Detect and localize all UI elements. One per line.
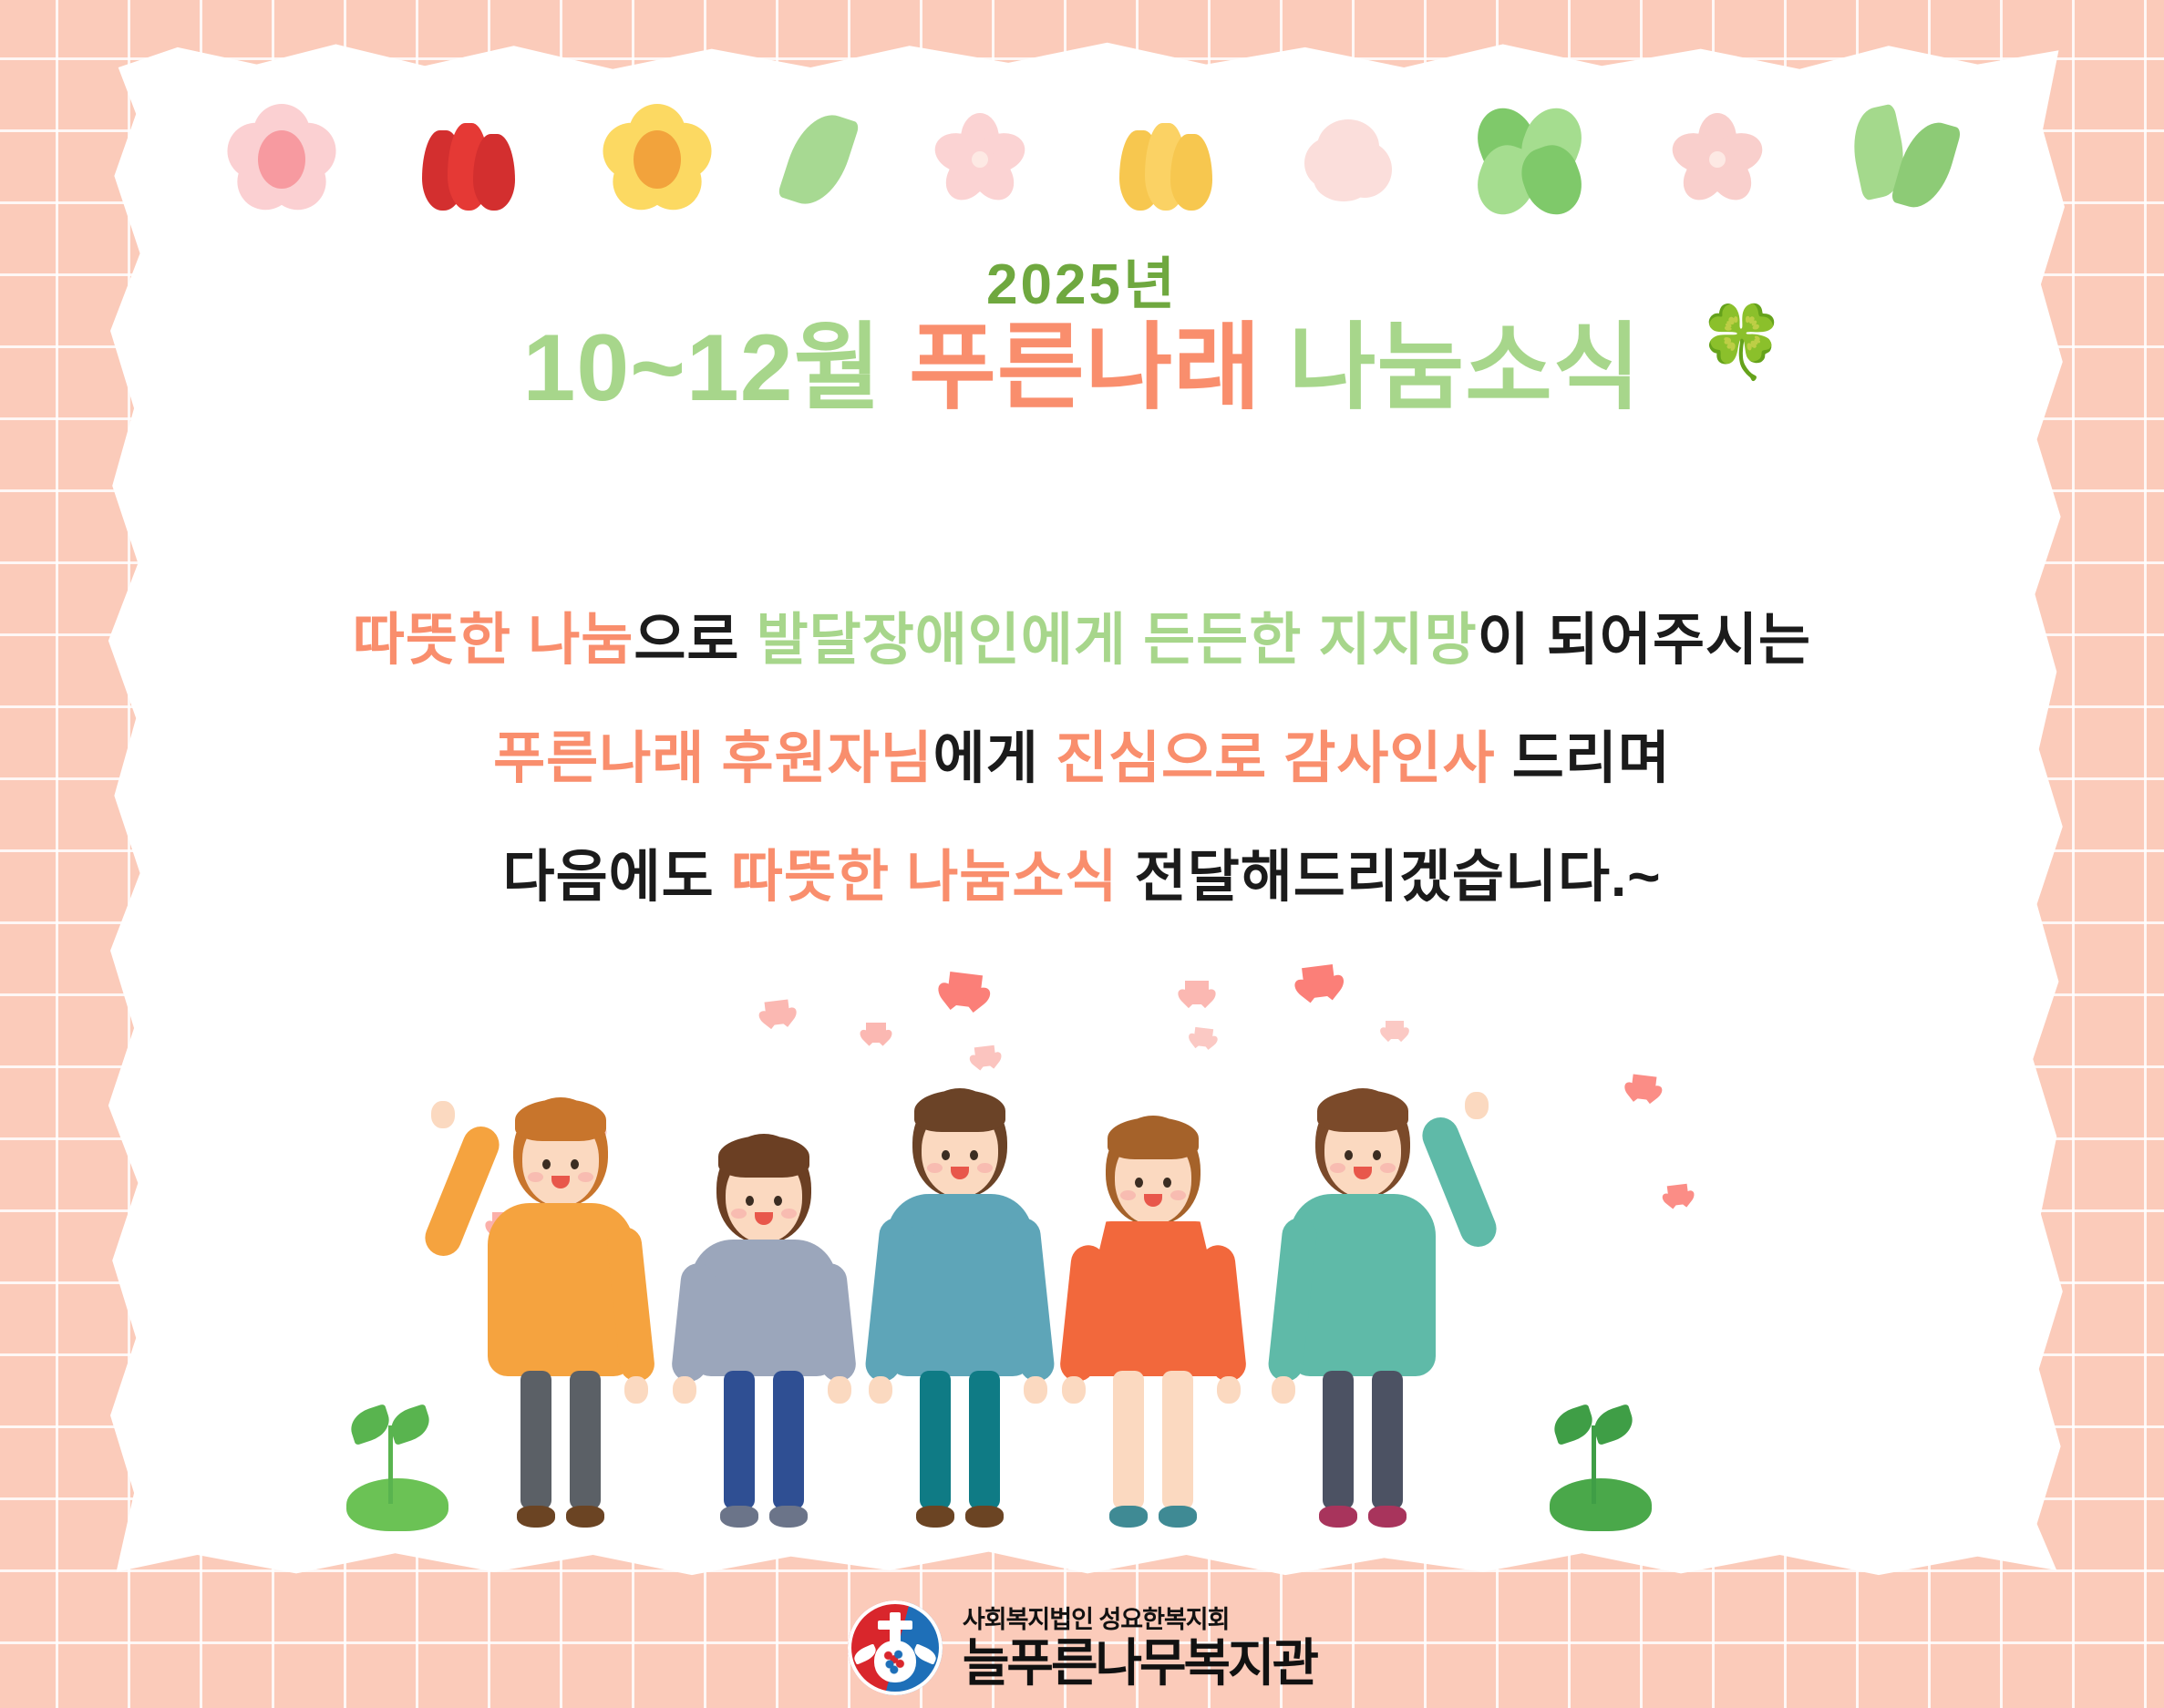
- hand-left: [431, 1101, 455, 1128]
- greeting-message: 따뜻한 나눔으로 발달장애인에게 든든한 지지망이 되어주시는푸른나래 후원자님…: [0, 612, 2164, 968]
- heart-icon: [974, 1045, 997, 1068]
- message-line-3-seg-2: 전달해드리겠습니다.~: [1118, 846, 1661, 909]
- hand-right: [1465, 1092, 1489, 1119]
- cheek-right: [977, 1163, 993, 1173]
- person-orange-sweater: [456, 1103, 665, 1531]
- st-john-of-god-emblem-icon: [848, 1600, 943, 1695]
- hand-right: [624, 1376, 648, 1404]
- flower-pink-icon: [228, 106, 335, 213]
- eye-left: [746, 1196, 754, 1206]
- cheek-left: [1330, 1163, 1345, 1173]
- leg-left: [724, 1371, 755, 1509]
- title-segment-2: 나눔소식: [1262, 315, 1642, 421]
- shoe-left: [1319, 1506, 1357, 1528]
- person-blue-sweater: [848, 1094, 1071, 1531]
- shoe-left: [517, 1506, 555, 1528]
- heart-icon: [1193, 1027, 1213, 1047]
- hand-left: [869, 1376, 892, 1404]
- message-line-1-seg-2: 발달장애인에게 든든한 지지망: [757, 609, 1478, 672]
- heart-icon: [866, 1023, 886, 1043]
- message-line-2: 푸른나래 후원자님에게 진심으로 감사인사 드리며: [0, 731, 2164, 787]
- hair-fringe: [718, 1136, 809, 1178]
- bush: [1550, 1478, 1652, 1531]
- cheek-left: [1120, 1190, 1136, 1200]
- people-holding-hands-illustration: [456, 1075, 1732, 1531]
- message-line-3-seg-0: 다음에도: [503, 846, 731, 909]
- sprout-leaf-right: [386, 1404, 434, 1446]
- sprout-leaf-left: [346, 1404, 394, 1446]
- eye-right: [571, 1159, 579, 1169]
- tulip-red-icon: [415, 108, 524, 211]
- hand-right: [1217, 1376, 1241, 1404]
- leaf-pair-green-icon: [1850, 106, 1960, 213]
- heart-icon: [1185, 981, 1209, 1004]
- torso: [1290, 1194, 1436, 1376]
- shoe-right: [965, 1506, 1004, 1528]
- leg-right: [1372, 1371, 1403, 1509]
- four-leaf-clover-icon: 🍀: [1697, 306, 1786, 377]
- message-line-2-seg-1: 에게: [933, 727, 1056, 790]
- title-segment-0: 10~12월: [522, 315, 909, 421]
- eye-left: [1135, 1178, 1143, 1188]
- heart-icon: [1386, 1021, 1404, 1039]
- sprout-leaf-left: [1550, 1404, 1597, 1446]
- hand-left: [1062, 1376, 1086, 1404]
- hair-fringe: [1317, 1090, 1408, 1132]
- cheek-right: [781, 1209, 797, 1219]
- footer-logo: 사회복지법인 성요한복지회 늘푸른나무복지관: [0, 1600, 2164, 1695]
- organization-name: 늘푸른나무복지관: [963, 1637, 1316, 1689]
- leg-left: [520, 1371, 551, 1509]
- cheek-left: [927, 1163, 943, 1173]
- message-line-1-seg-1: 으로: [634, 609, 756, 672]
- bush: [346, 1478, 448, 1531]
- hand-left: [673, 1376, 696, 1404]
- leaf-green-icon: [790, 112, 847, 207]
- flower-yellow-icon: [603, 106, 711, 213]
- message-line-3-seg-1: 따뜻한 나눔소식: [731, 846, 1118, 909]
- hair-fringe: [1108, 1117, 1199, 1159]
- shoe-left: [916, 1506, 954, 1528]
- message-line-1: 따뜻한 나눔으로 발달장애인에게 든든한 지지망이 되어주시는: [0, 612, 2164, 669]
- person-grey-knit: [665, 1139, 861, 1531]
- cheek-left: [528, 1172, 543, 1182]
- message-line-1-seg-3: 이 되어주시는: [1478, 609, 1811, 672]
- cheek-right: [578, 1172, 593, 1182]
- message-line-2-seg-3: 드리며: [1496, 727, 1671, 790]
- shoe-left: [1109, 1506, 1148, 1528]
- eye-left: [942, 1150, 950, 1160]
- eye-right: [1373, 1150, 1381, 1160]
- organization-subtitle: 사회복지법인 성요한복지회: [963, 1607, 1316, 1634]
- eye-left: [542, 1159, 551, 1169]
- eye-left: [1345, 1150, 1353, 1160]
- title-segment-1: 푸른나래: [909, 315, 1262, 421]
- cherry-blossom-pink-icon: [1664, 106, 1771, 213]
- message-line-2-seg-0: 푸른나래 후원자님: [493, 727, 933, 790]
- eye-right: [774, 1196, 782, 1206]
- stem: [388, 1425, 393, 1504]
- message-line-1-seg-0: 따뜻한 나눔: [353, 609, 634, 672]
- person-orange-dress: [1048, 1121, 1258, 1531]
- cheek-right: [1170, 1190, 1186, 1200]
- stem: [1592, 1425, 1596, 1504]
- hand-right: [1024, 1376, 1047, 1404]
- emblem-pomegranate-icon: [874, 1641, 916, 1682]
- shoe-right: [1368, 1506, 1407, 1528]
- message-line-3: 다음에도 따뜻한 나눔소식 전달해드리겠습니다.~: [0, 849, 2164, 906]
- message-line-2-seg-2: 진심으로 감사인사: [1056, 727, 1496, 790]
- heart-icon: [1302, 964, 1336, 999]
- leg-left: [920, 1371, 951, 1509]
- page-title: 10~12월 푸른나래 나눔소식: [0, 319, 2164, 418]
- four-leaf-clover-icon: [1475, 106, 1584, 213]
- shoe-left: [720, 1506, 758, 1528]
- person-teal-dots: [1249, 1094, 1477, 1531]
- leg-right: [1162, 1371, 1193, 1509]
- leg-right: [773, 1371, 804, 1509]
- leg-right: [570, 1371, 601, 1509]
- shoe-right: [1159, 1506, 1197, 1528]
- hand-left: [1272, 1376, 1295, 1404]
- hair-fringe: [515, 1099, 606, 1141]
- sprout-leaf-right: [1590, 1404, 1637, 1446]
- eye-right: [970, 1150, 978, 1160]
- tulip-yellow-icon: [1112, 108, 1221, 211]
- blob-lightpink-icon: [1301, 114, 1396, 205]
- shoe-right: [769, 1506, 808, 1528]
- sprout-right-icon: [1541, 1385, 1668, 1531]
- decorative-flower-strip: [228, 96, 1960, 223]
- year-label: 2025년: [0, 257, 2164, 314]
- heart-icon: [765, 1000, 791, 1026]
- logo-text-block: 사회복지법인 성요한복지회 늘푸른나무복지관: [963, 1607, 1316, 1690]
- cheek-right: [1380, 1163, 1396, 1173]
- hair-fringe: [914, 1090, 1005, 1132]
- heart-icon: [946, 972, 983, 1008]
- sprout-left-icon: [337, 1385, 465, 1531]
- cheek-left: [731, 1209, 747, 1219]
- eye-right: [1163, 1178, 1171, 1188]
- blossom-pink-icon: [926, 106, 1034, 213]
- shoe-right: [566, 1506, 604, 1528]
- title-block: 2025년 10~12월 푸른나래 나눔소식: [0, 257, 2164, 418]
- leg-left: [1323, 1371, 1354, 1509]
- leg-right: [969, 1371, 1000, 1509]
- leg-left: [1113, 1371, 1144, 1509]
